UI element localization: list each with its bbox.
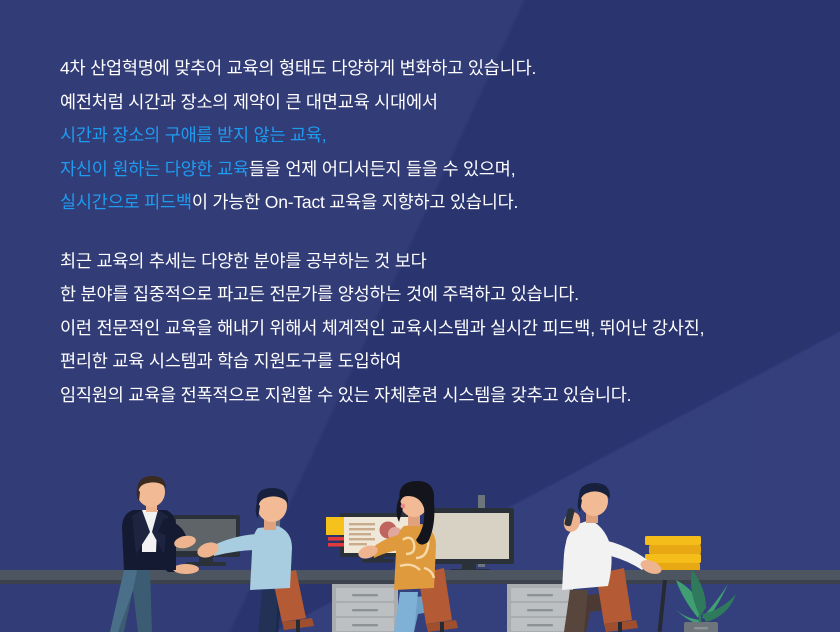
text-line: 4차 산업혁명에 맞추어 교육의 형태도 다양하게 변화하고 있습니다. [60,52,800,86]
line-segment-highlight: 시간과 장소의 구애를 받지 않는 교육, [60,125,326,145]
line-segment-highlight: 실시간으로 피드백 [60,192,192,212]
monitor-right [424,508,514,573]
paragraph-1: 4차 산업혁명에 맞추어 교육의 형태도 다양하게 변화하고 있습니다. 예전처… [60,52,800,220]
line-segment: 예전처럼 시간과 장소의 제약이 큰 대면교육 시대에서 [60,92,438,112]
slide-canvas: 4차 산업혁명에 맞추어 교육의 형태도 다양하게 변화하고 있습니다. 예전처… [0,0,840,632]
figure-seated-man-lightblue [195,488,314,632]
text-line: 예전처럼 시간과 장소의 제약이 큰 대면교육 시대에서 [60,86,800,120]
text-line: 최근 교육의 추세는 다양한 분야를 공부하는 것 보다 [60,245,800,279]
line-segment-highlight: 자신이 원하는 다양한 교육 [60,159,249,179]
filing-cabinet [332,584,398,632]
line-segment: 이런 전문적인 교육을 해내기 위해서 체계적인 교육시스템과 실시간 피드백,… [60,318,704,338]
line-segment: 4차 산업혁명에 맞추어 교육의 형태도 다양하게 변화하고 있습니다. [60,58,536,78]
office-illustration [0,470,840,632]
filing-cabinet [507,584,573,632]
text-content: 4차 산업혁명에 맞추어 교육의 형태도 다양하게 변화하고 있습니다. 예전처… [60,52,800,412]
line-segment: 들을 언제 어디서든지 들을 수 있으며, [249,159,515,179]
sticky-note-red [328,537,344,541]
line-segment: 편리한 교육 시스템과 학습 지원도구를 도입하여 [60,351,401,371]
paragraph-2: 최근 교육의 추세는 다양한 분야를 공부하는 것 보다 한 분야를 집중적으로… [60,245,800,413]
line-segment: 이 가능한 On-Tact 교육을 지향하고 있습니다. [192,192,518,212]
sticky-note-red [328,543,344,547]
text-line: 한 분야를 집중적으로 파고든 전문가를 양성하는 것에 주력하고 있습니다. [60,278,800,312]
text-line: 임직원의 교육을 전폭적으로 지원할 수 있는 자체훈련 시스템을 갖추고 있습… [60,379,800,413]
text-line: 자신이 원하는 다양한 교육들을 언제 어디서든지 들을 수 있으며, [60,153,800,187]
line-segment: 최근 교육의 추세는 다양한 분야를 공부하는 것 보다 [60,251,427,271]
desk-leg [658,580,667,632]
text-line: 시간과 장소의 구애를 받지 않는 교육, [60,119,800,153]
line-segment: 임직원의 교육을 전폭적으로 지원할 수 있는 자체훈련 시스템을 갖추고 있습… [60,385,631,405]
text-line: 이런 전문적인 교육을 해내기 위해서 체계적인 교육시스템과 실시간 피드백,… [60,312,800,346]
text-line: 편리한 교육 시스템과 학습 지원도구를 도입하여 [60,345,800,379]
sticky-note-yellow [326,517,344,535]
line-segment: 한 분야를 집중적으로 파고든 전문가를 양성하는 것에 주력하고 있습니다. [60,284,579,304]
text-line: 실시간으로 피드백이 가능한 On-Tact 교육을 지향하고 있습니다. [60,186,800,220]
